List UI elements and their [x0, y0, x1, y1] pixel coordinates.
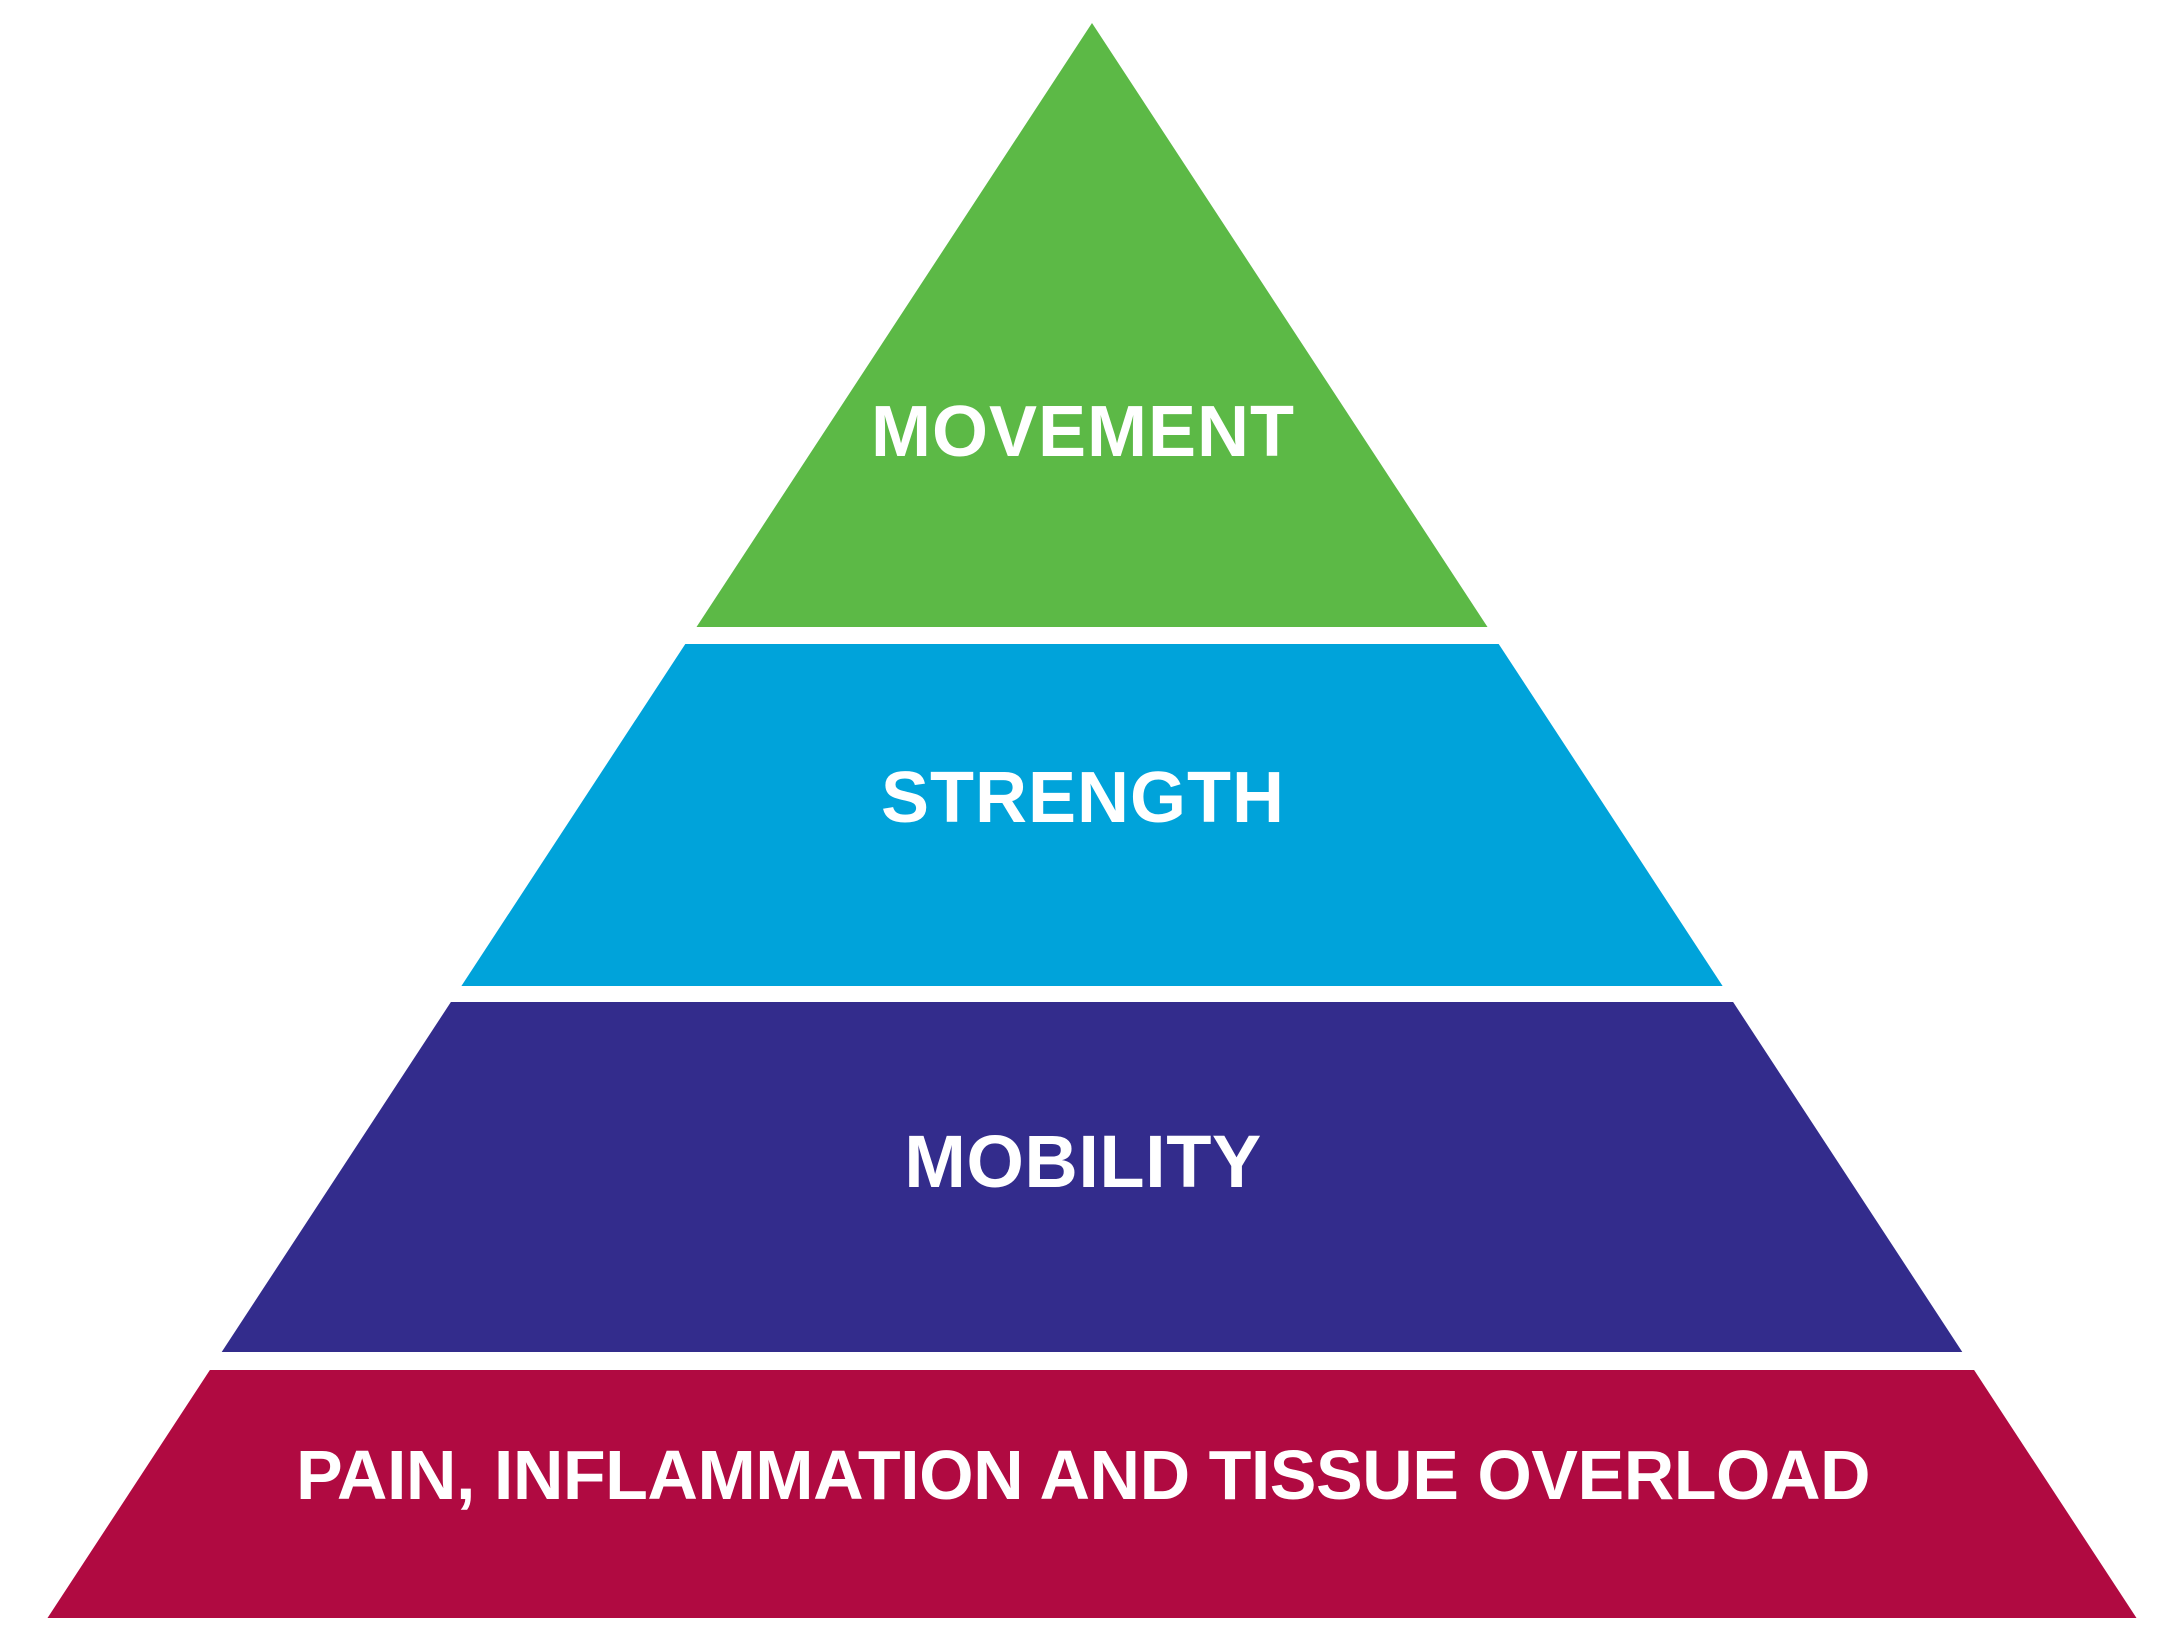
pyramid-tier-overload[interactable] — [48, 1370, 2137, 1618]
pyramid-figure: MOVEMENT STRENGTH MOBILITY PAIN, INFLAMM… — [0, 0, 2166, 1649]
pyramid-tier-mobility[interactable] — [222, 1002, 1963, 1352]
pyramid-diagram — [0, 0, 2166, 1649]
